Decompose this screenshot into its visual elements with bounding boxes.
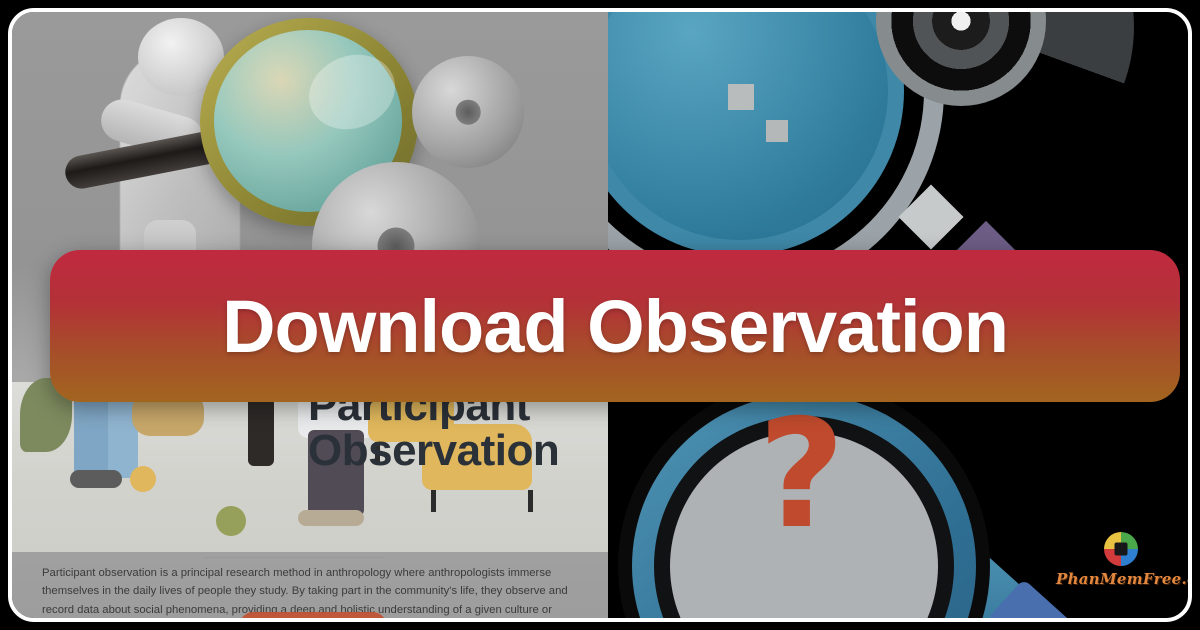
magnifier-glint xyxy=(298,42,407,142)
image-frame: Participant Observation Participant obse… xyxy=(8,8,1192,622)
poster-body-text: Participant observation is a principal r… xyxy=(42,564,582,618)
gear-icon xyxy=(412,56,524,168)
ball-icon xyxy=(130,466,156,492)
download-button-label: Download Observation xyxy=(222,284,1008,369)
ball-icon xyxy=(216,506,246,536)
aperture-icon xyxy=(1104,532,1138,566)
watermark-brand: PhanMemFree.org xyxy=(1056,570,1186,588)
poster-title-line2: Observation xyxy=(308,429,598,474)
question-mark-icon: ? xyxy=(758,400,878,550)
divider xyxy=(204,557,384,558)
person-shoe xyxy=(70,470,122,488)
square-decoration xyxy=(728,84,754,110)
screenshot-stage: Participant Observation Participant obse… xyxy=(0,0,1200,630)
download-observation-button[interactable]: Download Observation xyxy=(50,250,1180,402)
watermark-logo: PhanMemFree.org xyxy=(1056,532,1186,588)
person-shoe xyxy=(298,510,364,526)
square-decoration xyxy=(766,120,788,142)
poster-url-pill: www.anthrohub.com xyxy=(240,612,386,618)
